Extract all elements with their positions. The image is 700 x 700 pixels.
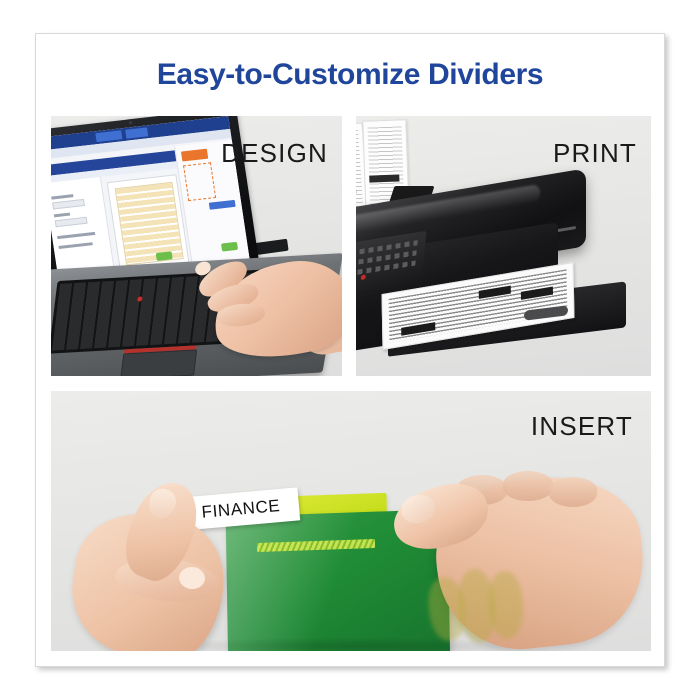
right-knuckle-2 bbox=[503, 471, 553, 501]
panel-caption-insert: INSERT bbox=[531, 411, 633, 442]
form-label-4 bbox=[59, 242, 93, 249]
hand-icon-left bbox=[57, 449, 257, 651]
form-field-1 bbox=[52, 199, 85, 210]
hand-icon-typing bbox=[173, 242, 342, 368]
form-label-2 bbox=[54, 213, 70, 218]
panel-insert[interactable]: FINANCE INSERT bbox=[51, 391, 651, 651]
panel-design[interactable]: DESIGN bbox=[51, 116, 342, 376]
screen-orange-outline bbox=[183, 162, 216, 201]
form-label-1 bbox=[51, 194, 73, 199]
product-image-card: Easy-to-Customize Dividers bbox=[35, 33, 665, 667]
screenshot-root: Easy-to-Customize Dividers bbox=[0, 0, 700, 700]
right-knuckle-3 bbox=[549, 477, 597, 507]
form-field-2 bbox=[55, 217, 88, 228]
form-label-3 bbox=[57, 232, 95, 239]
page-title: Easy-to-Customize Dividers bbox=[36, 58, 664, 92]
panel-caption-print: PRINT bbox=[553, 138, 637, 169]
panel-print[interactable]: PRINT bbox=[356, 116, 651, 376]
sheet-tab-mark bbox=[369, 175, 399, 183]
webcam-icon bbox=[129, 121, 132, 124]
power-indicator-icon bbox=[361, 274, 367, 280]
panel-caption-design: DESIGN bbox=[221, 138, 328, 169]
